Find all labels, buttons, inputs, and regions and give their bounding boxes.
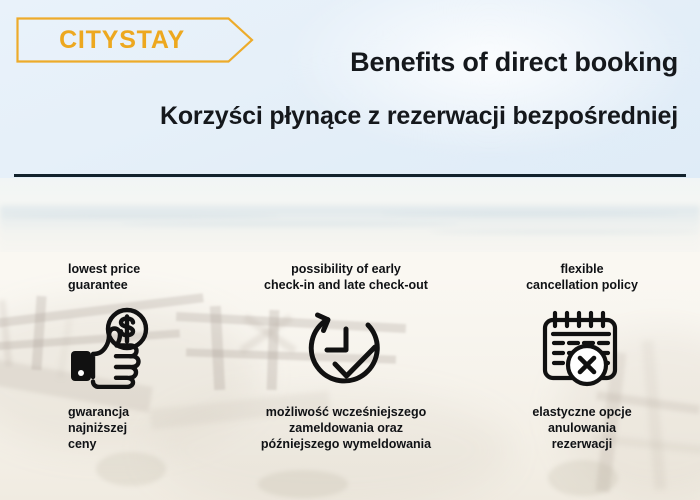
benefit-label-en: lowest price guarantee [68,262,140,293]
benefit-icon-slot [298,305,394,391]
benefit-icon-slot [534,305,630,391]
benefit-label-pl: elastyczne opcje anulowania rezerwacji [532,405,631,452]
thumbs-up-coin-icon [67,307,153,389]
calendar-cancel-icon [539,308,625,388]
promo-poster: CITYSTAY Benefits of direct booking Korz… [0,0,700,500]
header-panel: CITYSTAY Benefits of direct booking Korz… [0,0,700,178]
header-sheen [280,0,700,160]
benefit-label-pl: możliwość wcześniejszego zameldowania or… [261,405,431,452]
clock-check-icon [305,307,387,389]
page-title-en: Benefits of direct booking [0,47,678,78]
benefit-label-en: possibility of early check-in and late c… [264,262,428,293]
benefit-column-early-checkin: possibility of early check-in and late c… [228,250,464,500]
header-divider [14,174,686,177]
benefit-icon-slot [62,305,158,391]
page-title-pl: Korzyści płynące z rezerwacji bezpośredn… [0,102,678,131]
benefit-label-pl: gwarancja najniższej ceny [68,405,129,452]
benefit-column-flexible-cancellation: flexible cancellation policy [464,250,700,500]
benefits-row: lowest price guarantee [0,250,700,500]
benefit-label-en: flexible cancellation policy [526,262,638,293]
benefit-column-lowest-price: lowest price guarantee [0,250,228,500]
